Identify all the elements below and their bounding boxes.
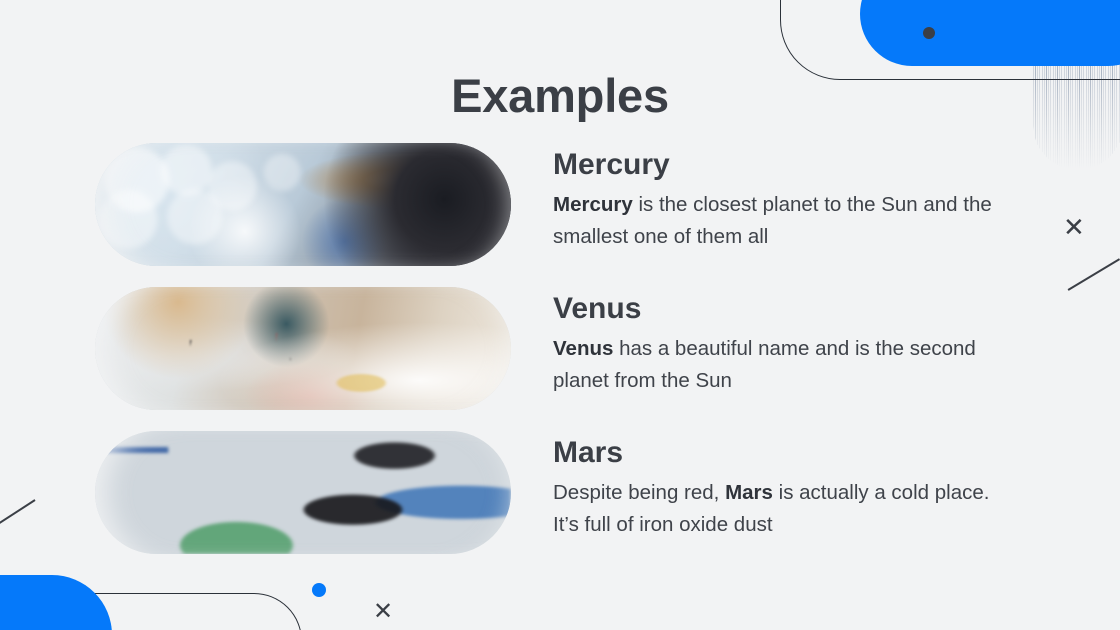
item-text-mars: Mars Despite being red, Mars is actually… [553,431,1025,542]
diagonal-line-left [0,499,35,524]
photo-lab-glassware [95,143,511,266]
dark-dot-top-right [923,27,935,39]
blue-pill-bottom-left [0,575,112,630]
item-body-rest: has a beautiful name and is the second p… [553,337,976,392]
examples-list: Mercury Mercury is the closest planet to… [95,143,1025,554]
item-heading: Venus [553,292,1025,325]
item-body-lead: Mars [725,481,773,504]
thumbnail-mars [95,431,511,554]
page-title: Examples [0,68,1120,123]
diagonal-line-right [1068,258,1120,290]
item-heading: Mercury [553,148,1025,181]
item-text-venus: Venus Venus has a beautiful name and is … [553,287,1025,398]
item-body: Despite being red, Mars is actually a co… [553,477,1013,542]
item-text-mercury: Mercury Mercury is the closest planet to… [553,143,1025,254]
x-mark-icon-right: ✕ [1063,215,1085,241]
photo-microscope [95,431,511,554]
item-body: Mercury is the closest planet to the Sun… [553,189,1013,254]
list-item: Venus Venus has a beautiful name and is … [95,287,1025,410]
thumbnail-venus [95,287,511,410]
x-mark-icon-bottom: ✕ [373,599,393,623]
item-body-lead: Mercury [553,193,633,216]
list-item: Mars Despite being red, Mars is actually… [95,431,1025,554]
outline-rounded-rect-bottom-left [0,593,302,630]
list-item: Mercury Mercury is the closest planet to… [95,143,1025,266]
photo-hands-writing [95,287,511,410]
thumbnail-mercury [95,143,511,266]
blue-pill-top-right [860,0,1120,66]
slide: ✕ ✕ Examples Mercury Mercury is the clos… [0,0,1120,630]
blue-dot-bottom [312,583,326,597]
item-heading: Mars [553,436,1025,469]
item-body-lead: Venus [553,337,613,360]
item-body-prefix: Despite being red, [553,481,725,504]
item-body: Venus has a beautiful name and is the se… [553,333,1013,398]
